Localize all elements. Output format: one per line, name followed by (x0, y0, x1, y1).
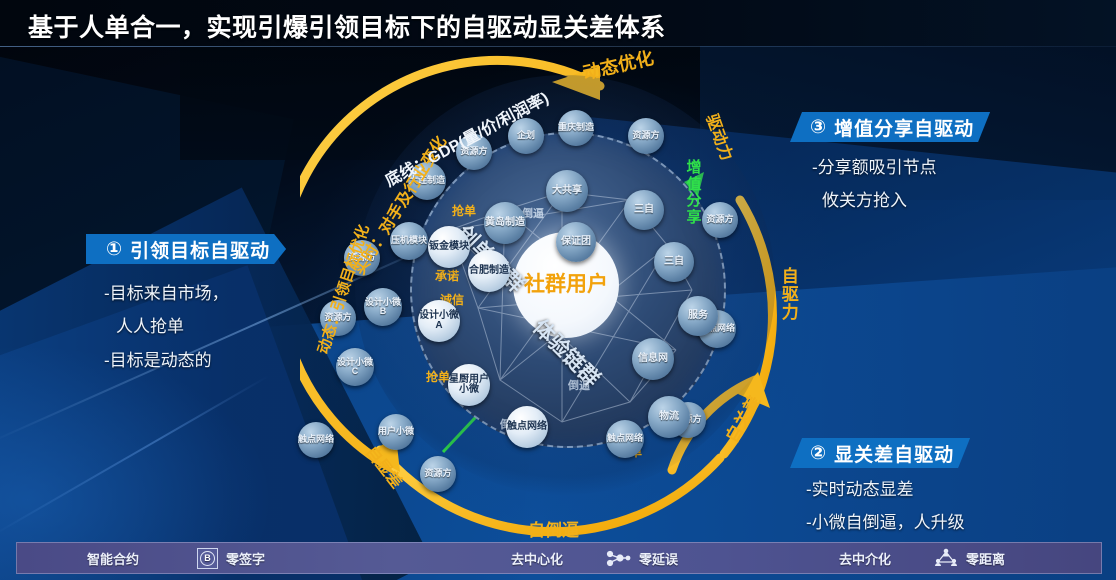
node-label: 信息网 (638, 354, 668, 365)
node-label: 触点网络 (298, 435, 334, 444)
node-bubble: 服务 (678, 296, 718, 336)
node-label: 合肥制造 (469, 266, 509, 277)
node-bubble: 黄岛制造 (484, 202, 526, 244)
panel-banner-2[interactable]: ② 显关差自驱动 (790, 438, 970, 468)
bullet-text: 攸关方抢入 (812, 185, 937, 216)
inline-label-qiangdan: 抢单 (452, 202, 476, 219)
node-bubble: 三自 (654, 242, 694, 282)
arc-label-zengzhifenxiang: 增值分享 (685, 160, 703, 226)
node-bubble: 信息网 (632, 338, 674, 380)
page-title: 基于人单合一，实现引爆引领目标下的自驱动显关差体系 (28, 8, 666, 44)
inline-label-chengnuo: 承诺 (435, 267, 459, 284)
panel-bullets-2: -实时动态显差 -小微自倒逼，人升级 (806, 474, 965, 541)
node-label: 保证团 (561, 237, 591, 248)
node-label: 物流 (659, 412, 679, 423)
panel-bullets-1: -目标来自市场， 人人抢单 -目标是动态的 (104, 278, 229, 378)
node-label: 大共享 (552, 186, 582, 197)
node-label: 服务 (688, 311, 708, 322)
bullet-text: 人人抢单 (104, 311, 229, 342)
node-label: 资源方 (706, 215, 733, 224)
node-label: 资源方 (632, 131, 659, 140)
node-bubble: 资源方 (420, 456, 456, 492)
node-bubble: 触点网络 (298, 422, 334, 458)
network-node-icon (605, 548, 631, 568)
panel-heading-2: 显关差自驱动 (834, 440, 954, 467)
node-label: 设计小微A (418, 311, 460, 332)
bottom-item-zero-signature[interactable]: B 零签字 (197, 548, 265, 569)
node-bubble: 设计小微A (418, 300, 460, 342)
arc-label-zidaobi: 自倒逼 (528, 516, 579, 541)
node-label: 设计小微C (336, 358, 374, 377)
node-bubble: 合肥制造 (468, 250, 510, 292)
node-label: 钣金模块 (429, 242, 469, 253)
node-bubble: 重庆制造 (558, 110, 594, 146)
node-bubble: 保证团 (556, 222, 596, 262)
bottom-item-zero-delay[interactable]: 零延误 (605, 548, 678, 568)
node-bubble: 资源方 (628, 118, 664, 154)
bottom-item-disintermediation[interactable]: 去中介化 (839, 549, 891, 568)
node-label: 触点网络 (507, 422, 547, 433)
arc-label-ziquli: 自驱力 (780, 268, 800, 322)
node-bubble: 星厨用户小微 (448, 364, 490, 406)
node-label: 触点网络 (607, 434, 643, 443)
bottom-item-label: 去中介化 (839, 549, 891, 568)
panel-bullets-3: -分享额吸引节点 攸关方抢入 (812, 152, 937, 219)
node-bubble: 钣金模块 (428, 226, 470, 268)
bullet-text: -分享额吸引节点 (812, 152, 937, 183)
core-label: 社群用户 (524, 274, 608, 297)
bullet-text: -目标是动态的 (104, 345, 229, 376)
bottom-status-bar: 智能合约 B 零签字 去中心化 (16, 542, 1102, 574)
bottom-item-label: 零延误 (639, 549, 678, 568)
panel-banner-1[interactable]: ① 引领目标自驱动 (86, 234, 286, 264)
node-bubble: 资源方 (702, 202, 738, 238)
node-bubble: 触点网络 (506, 406, 548, 448)
node-bubble: 触点网络 (606, 420, 644, 458)
node-bubble: 三自 (624, 190, 664, 230)
node-label: 星厨用户小微 (448, 375, 490, 396)
node-label: 用户小微 (378, 427, 414, 436)
bullet-text: -小微自倒逼，人升级 (806, 507, 965, 538)
node-label: 三自 (664, 257, 684, 268)
node-bubble: 物流 (648, 396, 690, 438)
bullet-text: -目标来自市场， (104, 278, 229, 309)
people-network-icon (934, 547, 958, 569)
panel-heading-3: 增值分享自驱动 (834, 114, 974, 141)
bottom-item-decentralization[interactable]: 去中心化 (511, 549, 563, 568)
bottom-item-label: 零签字 (226, 549, 265, 568)
node-label: 资源方 (424, 469, 451, 478)
node-label: 压机模块 (391, 236, 427, 245)
node-label: 黄岛制造 (485, 218, 525, 229)
panel-heading-1: 引领目标自驱动 (130, 236, 270, 263)
node-label: 重庆制造 (558, 123, 594, 132)
bullet-text: -实时动态显差 (806, 474, 965, 505)
slide-canvas: 基于人单合一，实现引爆引领目标下的自驱动显关差体系 (0, 0, 1116, 580)
panel-number-1: ① (106, 238, 123, 261)
panel-number-3: ③ (810, 116, 827, 139)
inline-label-qiangdan-2: 抢单 (426, 368, 450, 385)
node-label: 三自 (634, 205, 654, 216)
bottom-item-label: 智能合约 (87, 549, 139, 568)
inline-label-daobi-2: 倒逼 (568, 377, 590, 393)
panel-banner-3[interactable]: ③ 增值分享自驱动 (790, 112, 990, 142)
node-bubble: 设计小微C (336, 348, 374, 386)
node-label: 设计小微B (364, 298, 402, 317)
bottom-item-zero-distance[interactable]: 零距离 (934, 547, 1005, 569)
bottom-item-label: 零距离 (966, 549, 1005, 568)
circular-diagram: 社群用户 创单链群 体验链群 抢单 倒逼 承诺 诚信 抢单 抢单 倒逼 倒逼 资… (300, 50, 830, 550)
node-label: 企划 (517, 131, 535, 140)
panel-number-2: ② (810, 442, 827, 465)
bitcoin-coin-icon: B (197, 548, 218, 569)
node-bubble: 设计小微B (364, 288, 402, 326)
bottom-item-smart-contract[interactable]: 智能合约 (87, 549, 139, 568)
title-divider (0, 46, 1116, 47)
node-bubble: 大共享 (546, 170, 588, 212)
bottom-item-label: 去中心化 (511, 549, 563, 568)
